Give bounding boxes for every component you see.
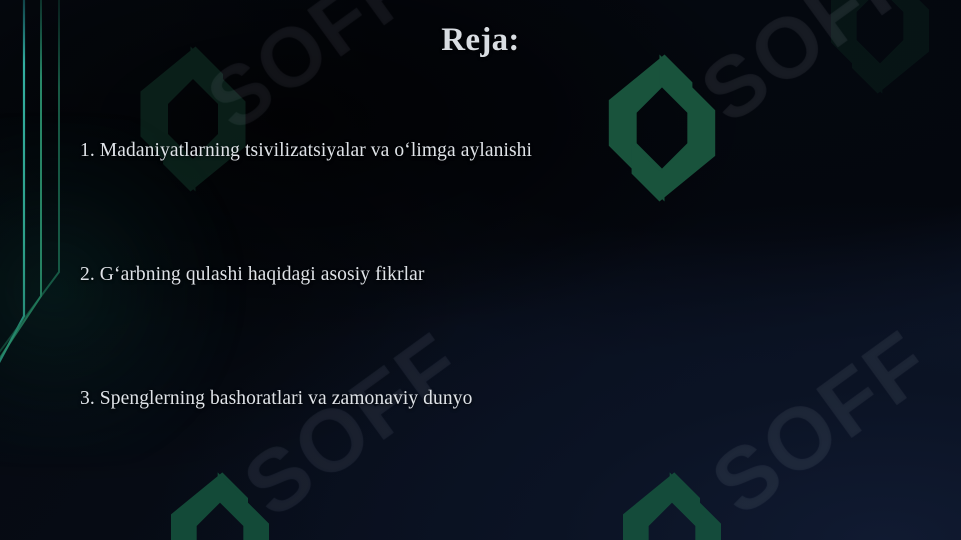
agenda-list: 1. Madaniyatlarning tsivilizatsiyalar va… (80, 138, 860, 510)
presentation-slide: SOFF SOFF SOFF SOFF (0, 0, 961, 540)
list-item: 3. Spenglerning bashoratlari va zamonavi… (80, 386, 860, 510)
page-title: Reja: (0, 22, 961, 59)
list-item: 1. Madaniyatlarning tsivilizatsiyalar va… (80, 138, 860, 262)
list-item: 2. Gʻarbning qulashi haqidagi asosiy fik… (80, 262, 860, 386)
slide-content: Reja: 1. Madaniyatlarning tsivilizatsiya… (0, 0, 961, 540)
